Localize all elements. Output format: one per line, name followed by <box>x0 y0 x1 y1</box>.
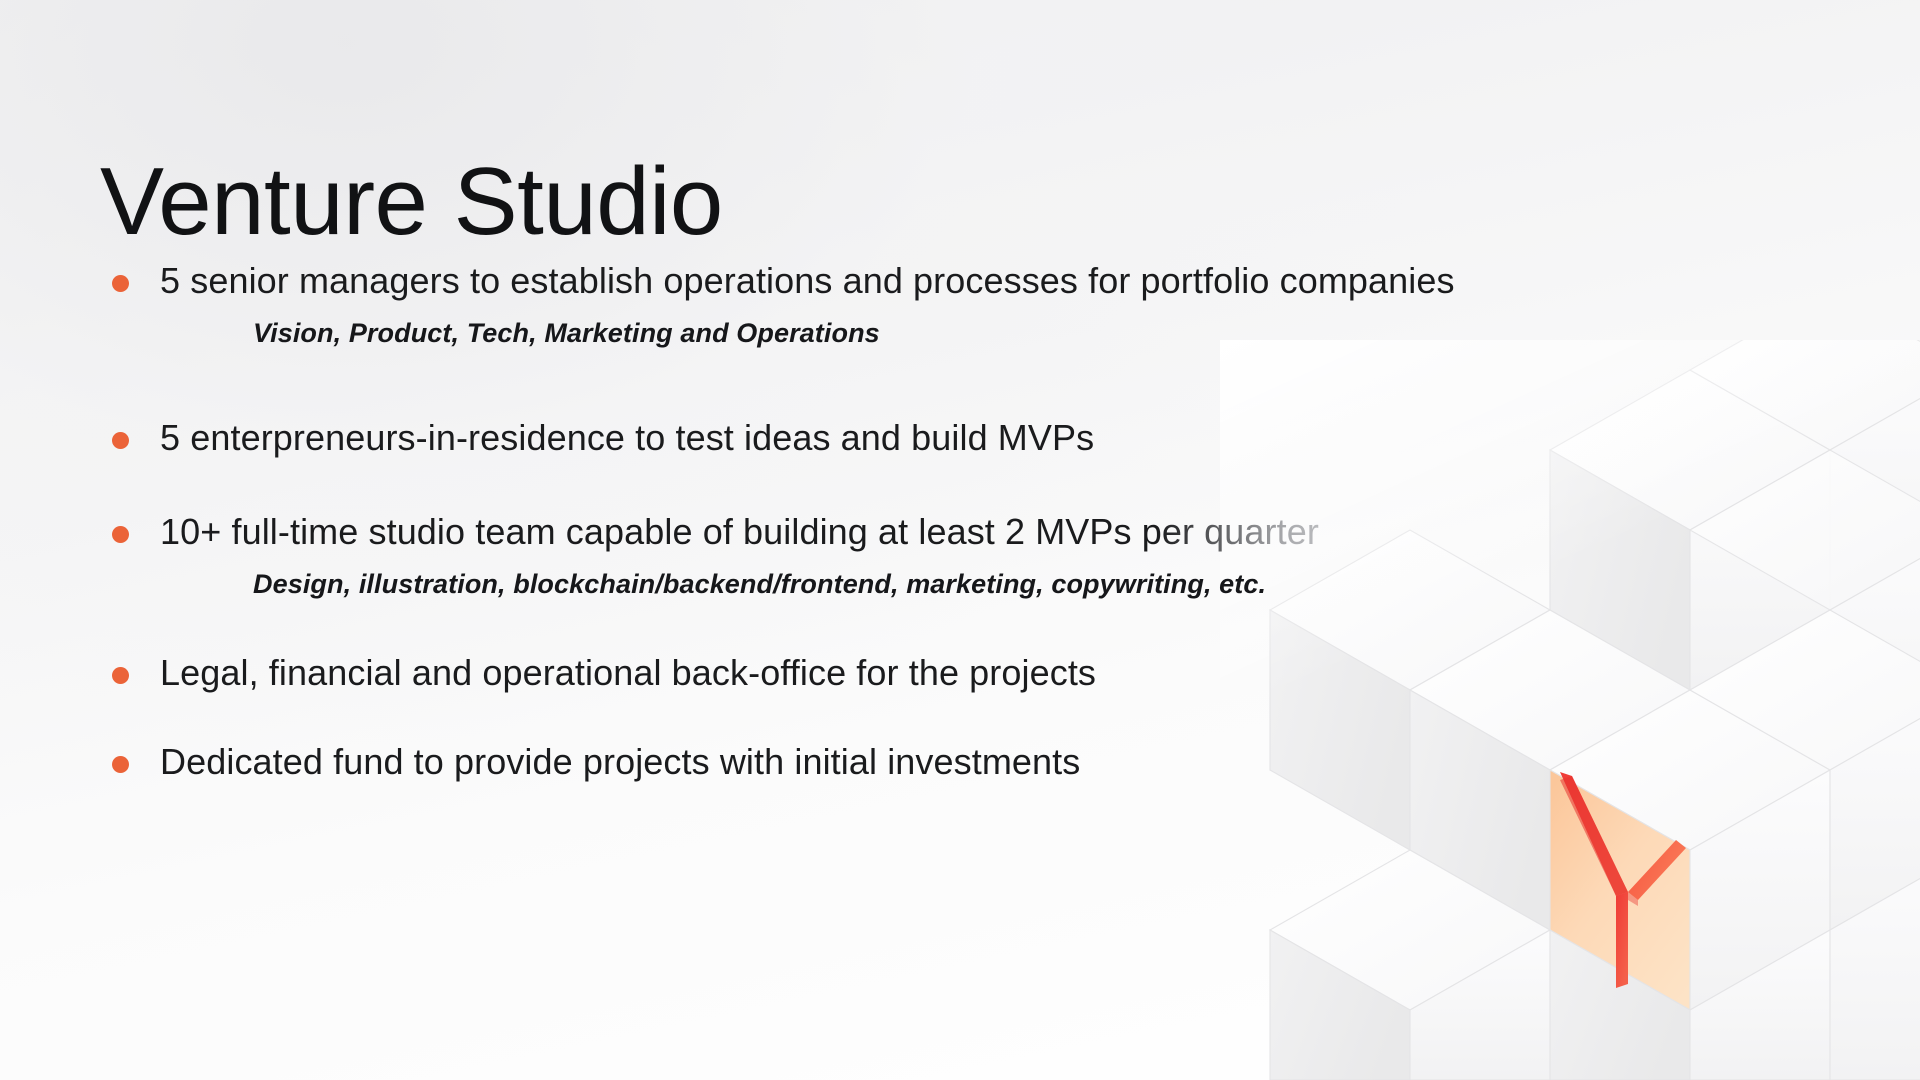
spacer <box>100 602 1580 650</box>
bullet-dot-icon <box>112 756 129 773</box>
spacer <box>100 697 1580 739</box>
list-item: 5 senior managers to establish operation… <box>100 258 1580 304</box>
bullet-dot-icon <box>112 275 129 292</box>
list-item: 10+ full-time studio team capable of bui… <box>100 509 1580 555</box>
bullet-subnote: Design, illustration, blockchain/backend… <box>100 567 1580 602</box>
logo-mark <box>1560 772 1686 988</box>
bullet-subnote: Vision, Product, Tech, Marketing and Ope… <box>100 316 1580 351</box>
slide-canvas: Venture Studio 5 senior managers to esta… <box>0 0 1920 1080</box>
bullet-text: 5 enterpreneurs-in-residence to test ide… <box>160 415 1094 461</box>
spacer <box>100 351 1580 415</box>
bullet-list: 5 senior managers to establish operation… <box>100 258 1580 785</box>
list-item: Legal, financial and operational back-of… <box>100 650 1580 696</box>
bullet-text: Dedicated fund to provide projects with … <box>160 739 1080 785</box>
bullet-dot-icon <box>112 432 129 449</box>
bullet-text: Legal, financial and operational back-of… <box>160 650 1096 696</box>
list-item: Dedicated fund to provide projects with … <box>100 739 1580 785</box>
bullet-dot-icon <box>112 667 129 684</box>
list-item: 5 enterpreneurs-in-residence to test ide… <box>100 415 1580 461</box>
bullet-text: 5 senior managers to establish operation… <box>160 258 1455 304</box>
bullet-text: 10+ full-time studio team capable of bui… <box>160 509 1319 555</box>
spacer <box>100 461 1580 509</box>
bullet-dot-icon <box>112 526 129 543</box>
page-title: Venture Studio <box>100 150 723 254</box>
